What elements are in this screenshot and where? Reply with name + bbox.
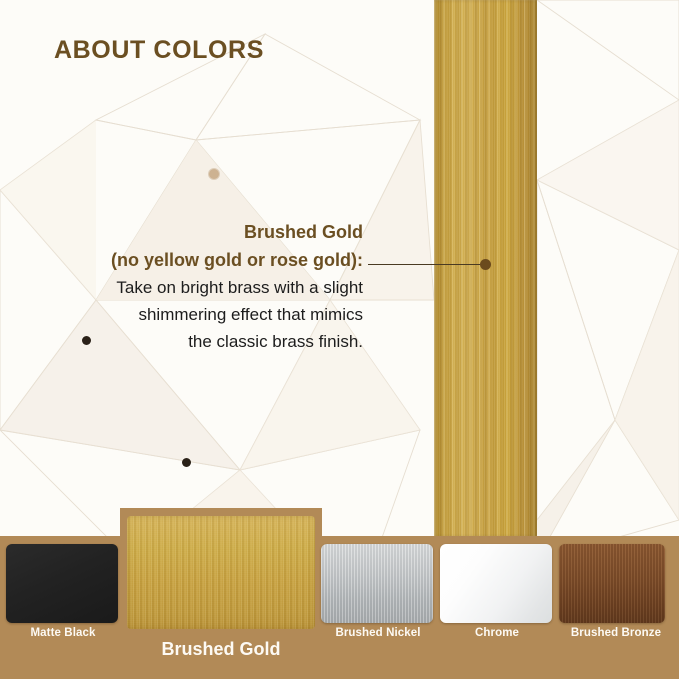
color-swatch-bar: Matte Black Brushed Gold Brushed Nickel … [0, 536, 679, 679]
swatch-label-brushed-nickel: Brushed Nickel [321, 627, 435, 639]
decorative-dot-tan [209, 169, 219, 179]
swatch-tile-matte-black[interactable] [6, 544, 118, 623]
swatch-tile-brushed-gold[interactable] [127, 516, 315, 629]
callout-heading-line-1: Brushed Gold [20, 218, 363, 246]
callout-leader-line [368, 264, 486, 265]
callout-body-line-1: Take on bright brass with a slight [20, 274, 363, 301]
swatch-label-matte-black: Matte Black [6, 627, 120, 639]
callout-leader-endpoint-dot [480, 259, 491, 270]
swatch-matte-black[interactable]: Matte Black [6, 544, 120, 639]
swatch-tile-chrome[interactable] [440, 544, 552, 623]
decorative-dot-dark-lower [182, 458, 191, 467]
swatch-gold-highlight-frame [120, 508, 322, 634]
callout-heading-line-2: (no yellow gold or rose gold): [20, 246, 363, 274]
swatch-chrome[interactable]: Chrome [440, 544, 554, 639]
callout-text-block: Brushed Gold (no yellow gold or rose gol… [20, 218, 363, 355]
swatch-brushed-gold-selected[interactable]: Brushed Gold [120, 508, 322, 660]
swatch-brushed-bronze[interactable]: Brushed Bronze [559, 544, 673, 639]
callout-body-line-2: shimmering effect that mimics [20, 301, 363, 328]
callout-body-line-3: the classic brass finish. [20, 328, 363, 355]
swatch-label-brushed-bronze: Brushed Bronze [559, 627, 673, 639]
page-title: ABOUT COLORS [54, 36, 264, 65]
swatch-label-chrome: Chrome [440, 627, 554, 639]
swatch-tile-brushed-nickel[interactable] [321, 544, 433, 623]
about-colors-infographic: ABOUT COLORS Brushed Gold (no yellow gol… [0, 0, 679, 679]
swatch-tile-brushed-bronze[interactable] [559, 544, 665, 623]
swatch-label-brushed-gold: Brushed Gold [120, 639, 322, 660]
swatch-brushed-nickel[interactable]: Brushed Nickel [321, 544, 435, 639]
